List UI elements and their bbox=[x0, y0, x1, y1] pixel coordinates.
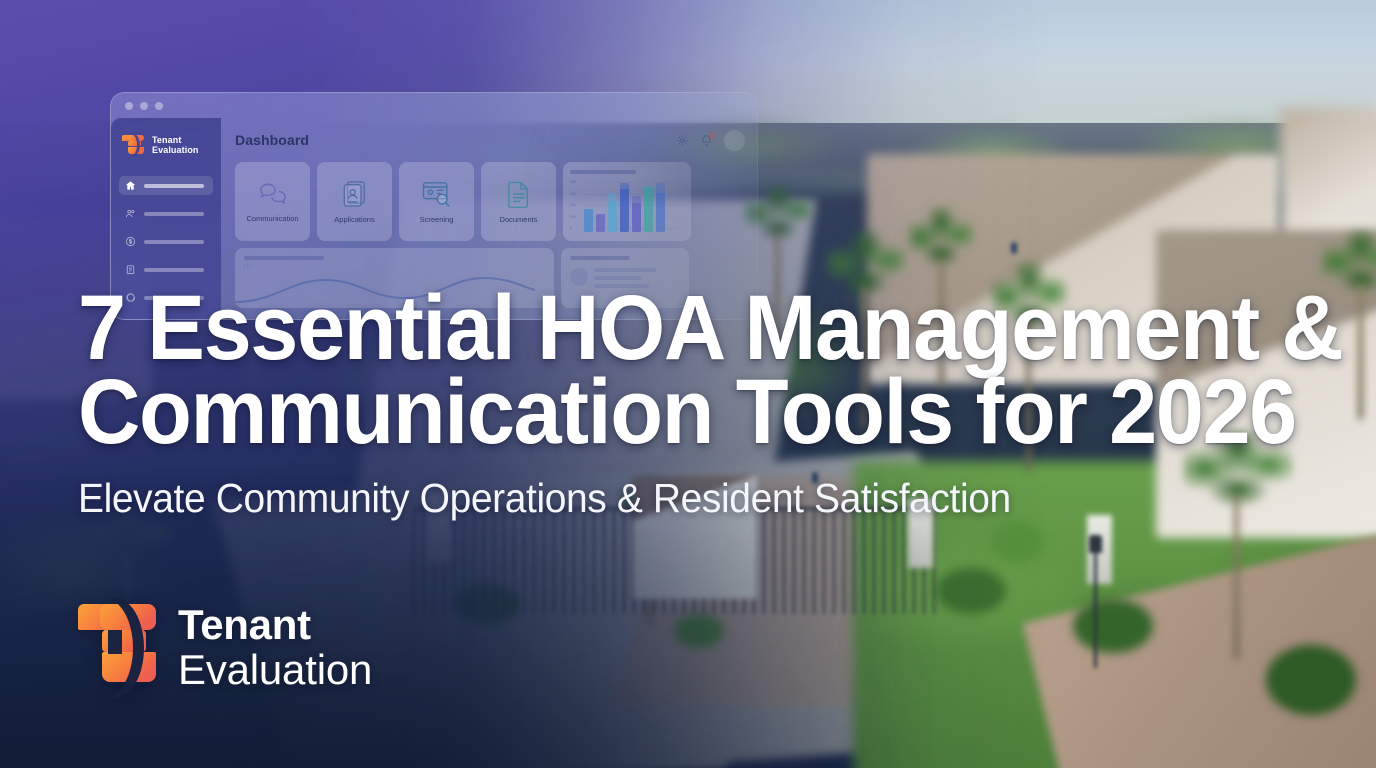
chart-gridline bbox=[583, 182, 684, 183]
chart-bar-base bbox=[620, 189, 629, 232]
hero-title-line-2: Communication Tools for 2026 bbox=[78, 370, 1187, 454]
tenant-evaluation-monogram-icon bbox=[78, 600, 156, 696]
bar-chart-card: 0400300200100 bbox=[563, 162, 691, 241]
footer-brand-logo: Tenant Evaluation bbox=[78, 600, 372, 696]
id-cards-icon bbox=[342, 180, 368, 208]
chart-y-tick: 020 bbox=[570, 203, 576, 207]
window-dot-close-icon[interactable] bbox=[125, 102, 133, 110]
chart-y-tick: 010 bbox=[570, 215, 576, 219]
footer-brand-line-2: Evaluation bbox=[178, 647, 372, 693]
hero-title-line-1: 7 Essential HOA Management & bbox=[78, 286, 1187, 370]
chart-bar bbox=[620, 183, 629, 232]
tile-screening[interactable]: Screening bbox=[399, 162, 474, 241]
chart-title-placeholder bbox=[570, 170, 636, 174]
footer-brand-line-1: Tenant bbox=[178, 603, 372, 647]
chart-bar-base bbox=[644, 187, 653, 233]
hero-subtitle: Elevate Community Operations & Resident … bbox=[78, 474, 1199, 522]
hero-text-block: 7 Essential HOA Management & Communicati… bbox=[78, 286, 1258, 522]
chart-y-tick: 0 bbox=[570, 226, 572, 230]
sidebar-label-placeholder bbox=[144, 184, 204, 188]
window-titlebar bbox=[111, 93, 757, 118]
tile-label: Applications bbox=[334, 215, 374, 224]
chart-y-tick: 040 bbox=[570, 180, 576, 184]
sidebar-item-payments[interactable] bbox=[119, 232, 213, 251]
sidebar-label-placeholder bbox=[144, 268, 204, 272]
chart-bar-base bbox=[656, 193, 665, 232]
sidebar-brand[interactable]: Tenant Evaluation bbox=[111, 128, 221, 162]
tile-documents[interactable]: Documents bbox=[481, 162, 556, 241]
sidebar-label-placeholder bbox=[144, 240, 204, 244]
chart-bar-base bbox=[608, 201, 617, 232]
mockup-header: Dashboard bbox=[235, 127, 745, 153]
users-icon bbox=[125, 208, 136, 219]
notification-badge bbox=[709, 132, 716, 139]
user-avatar[interactable] bbox=[724, 130, 745, 151]
document-icon bbox=[507, 180, 531, 208]
sidebar-brand-label: Tenant Evaluation bbox=[152, 135, 199, 156]
chart-bar-stack bbox=[608, 193, 617, 201]
chart-bar-base bbox=[632, 203, 641, 232]
gear-icon[interactable] bbox=[676, 134, 689, 147]
window-dot-maximize-icon[interactable] bbox=[155, 102, 163, 110]
chart-bar bbox=[644, 187, 653, 233]
id-search-icon bbox=[421, 180, 453, 208]
tile-label: Screening bbox=[420, 215, 454, 224]
speech-bubbles-icon bbox=[258, 181, 288, 207]
building-icon bbox=[125, 264, 136, 275]
chart-bar bbox=[584, 209, 593, 232]
sidebar-label-placeholder bbox=[144, 212, 204, 216]
chart-bar bbox=[608, 193, 617, 232]
tile-label: Communication bbox=[246, 214, 298, 223]
page-title: Dashboard bbox=[235, 132, 309, 148]
chart-bar-stack bbox=[656, 183, 665, 193]
quick-action-tiles: Communication Applications bbox=[235, 162, 745, 241]
chart-bar bbox=[596, 214, 605, 232]
sidebar-item-dashboard[interactable] bbox=[119, 176, 213, 195]
chart-bar-base bbox=[584, 209, 593, 232]
chart-bar bbox=[632, 196, 641, 232]
chart-y-tick: 030 bbox=[570, 192, 576, 196]
header-actions bbox=[676, 130, 745, 151]
sidebar-item-residents[interactable] bbox=[119, 204, 213, 223]
hero-banner: Tenant Evaluation bbox=[0, 0, 1376, 768]
chart-bar-base bbox=[596, 214, 605, 232]
widget-title-placeholder bbox=[570, 256, 630, 260]
tenant-evaluation-monogram-icon bbox=[122, 134, 145, 156]
window-dot-minimize-icon[interactable] bbox=[140, 102, 148, 110]
footer-brand-text: Tenant Evaluation bbox=[178, 603, 372, 693]
bell-icon[interactable] bbox=[700, 134, 713, 147]
tile-label: Documents bbox=[500, 215, 538, 224]
chart-bar bbox=[656, 183, 665, 232]
home-icon bbox=[125, 180, 136, 191]
chart-gridline bbox=[583, 194, 684, 195]
widget-title-placeholder bbox=[244, 256, 324, 260]
tile-communication[interactable]: Communication bbox=[235, 162, 310, 241]
chart-bar-stack bbox=[632, 196, 641, 204]
dollar-circle-icon bbox=[125, 236, 136, 247]
bar-chart-plot: 0400300200100 bbox=[570, 180, 684, 232]
tile-applications[interactable]: Applications bbox=[317, 162, 392, 241]
